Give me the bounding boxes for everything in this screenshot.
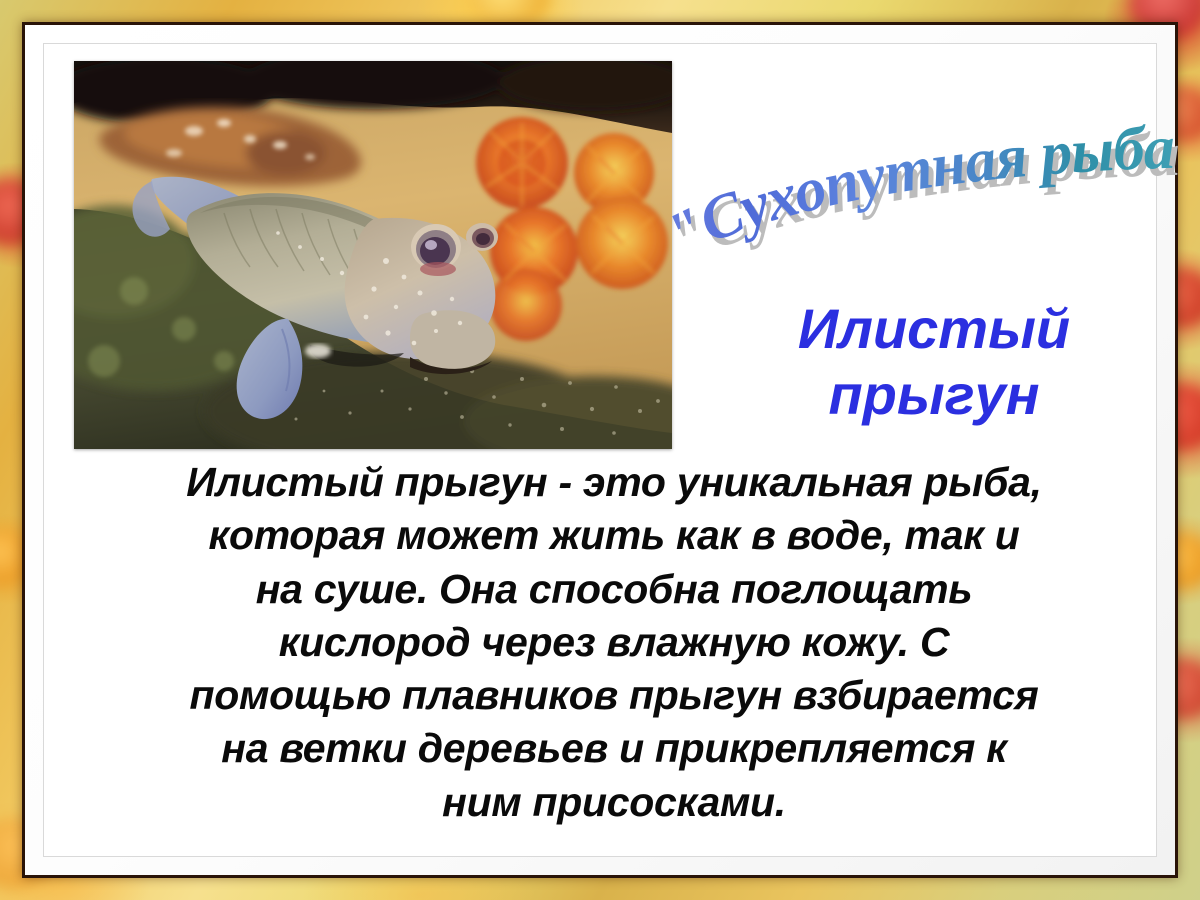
wordart-main-text: "Сухопутная рыба": [656, 100, 1174, 270]
paragraph-line: ним присосками.: [72, 776, 1156, 829]
framed-card: "Сухопутная рыба" "Сухопутная рыба" Илис…: [22, 22, 1178, 878]
page-title-line-2: прыгун: [684, 362, 1184, 428]
description-paragraph: Илистый прыгун - это уникальная рыба, ко…: [72, 456, 1156, 829]
card-inner-border: "Сухопутная рыба" "Сухопутная рыба" Илис…: [43, 43, 1157, 857]
paragraph-line: помощью плавников прыгун взбирается: [72, 669, 1156, 722]
page-title-line-1: Илистый: [684, 296, 1184, 362]
wordart-shadow-text: "Сухопутная рыба": [661, 107, 1179, 277]
paragraph-line: кислород через влажную кожу. С: [72, 616, 1156, 669]
paragraph-line: на суше. Она способна поглощать: [72, 563, 1156, 616]
paragraph-line: которая может жить как в воде, так и: [72, 509, 1156, 562]
card-mat: "Сухопутная рыба" "Сухопутная рыба" Илис…: [25, 25, 1175, 875]
paragraph-line: на ветки деревьев и прикрепляется к: [72, 722, 1156, 775]
page-title: Илистый прыгун: [684, 296, 1184, 427]
card-content-area: "Сухопутная рыба" "Сухопутная рыба" Илис…: [44, 44, 1156, 856]
paragraph-line: Илистый прыгун - это уникальная рыба,: [72, 456, 1156, 509]
svg-text:"Сухопутная рыба": "Сухопутная рыба": [656, 100, 1174, 270]
wordart-title: "Сухопутная рыба" "Сухопутная рыба": [674, 154, 1174, 279]
slide-canvas: "Сухопутная рыба" "Сухопутная рыба" Илис…: [0, 0, 1200, 900]
mudskipper-photo: [74, 61, 672, 449]
svg-text:"Сухопутная рыба": "Сухопутная рыба": [661, 107, 1179, 277]
